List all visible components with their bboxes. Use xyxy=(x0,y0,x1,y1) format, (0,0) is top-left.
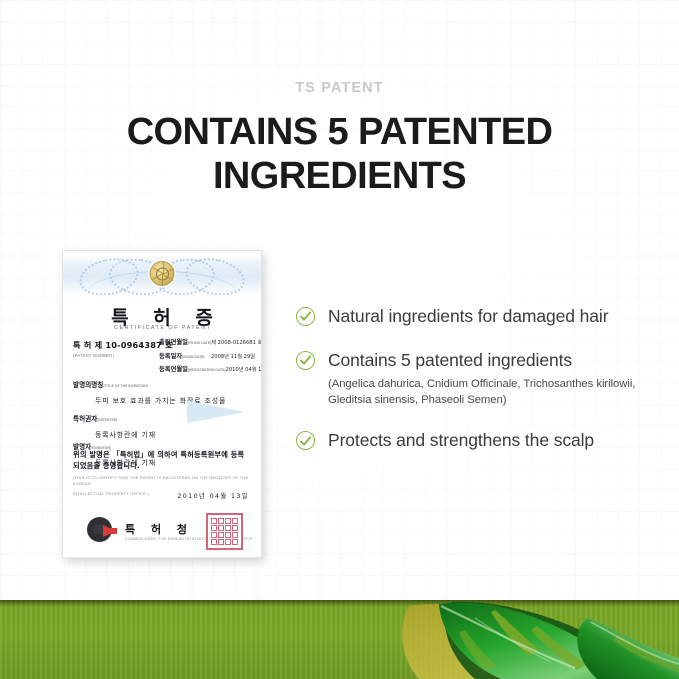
certificate-decorative-band xyxy=(63,255,261,295)
list-item: Natural ingredients for damaged hair xyxy=(296,305,646,328)
headline-line-1: CONTAINS 5 PATENTED xyxy=(60,110,619,154)
date-value: 2008년 11월 29일 xyxy=(211,353,255,360)
benefit-subtext: (Angelica dahurica, Cnidium Officinale, … xyxy=(328,376,646,409)
footer-band xyxy=(0,600,679,679)
certificate-subtitle: CERTIFICATE OF PATENT xyxy=(63,325,261,331)
benefit-text: Protects and strengthens the scalp xyxy=(328,429,646,452)
monstera-leaf-icon xyxy=(379,600,679,679)
benefit-text: Natural ingredients for damaged hair xyxy=(328,305,646,328)
date-key: 출원연월일(FILING DATE) xyxy=(159,337,211,346)
patentee-heading: 특허권자(PATENTEE) xyxy=(73,413,255,423)
certificate-footer: 특 허 청 COMMISSIONER, THE KOREAN INTELLECT… xyxy=(63,513,261,557)
certificate-date-row: 출원연월일(FILING DATE) 제 2008-0126681 호 xyxy=(159,337,255,346)
certify-text-kr-1: 위의 발명은 「특허법」에 의하여 특허등록원부에 등록 xyxy=(73,449,255,460)
official-seal-icon xyxy=(206,513,243,550)
list-item: Contains 5 patented ingredients (Angelic… xyxy=(296,349,646,409)
date-key: 등록일자(ISSUE DATE) xyxy=(159,351,205,360)
certificate-date-row: 등록연월일(REGISTRATION DATE) 2010년 04월 13일 xyxy=(159,364,255,373)
seal-pattern xyxy=(211,518,238,545)
certify-text-en-1: (THIS IS TO CERTIFY THAT THE PATENT IS R… xyxy=(73,475,255,487)
certificate-inner: 특 허 증 CERTIFICATE OF PATENT 특 허 제 10-096… xyxy=(63,251,261,557)
benefits-list: Natural ingredients for damaged hair Con… xyxy=(296,305,646,452)
certificate-date-block: 출원연월일(FILING DATE) 제 2008-0126681 호 등록일자… xyxy=(159,337,255,378)
certificate-certify-paragraph: 위의 발명은 「특허법」에 의하여 특허등록원부에 등록 되었음을 증명합니다.… xyxy=(73,449,255,497)
date-value: 제 2008-0126681 호 xyxy=(211,339,262,346)
benefit-text: Contains 5 patented ingredients xyxy=(328,349,646,372)
date-value: 2010년 04월 13일 xyxy=(226,366,262,373)
page-title: CONTAINS 5 PATENTED INGREDIENTS xyxy=(60,110,619,199)
office-name: 특 허 청 xyxy=(125,521,193,537)
page-root: TS PATENT CONTAINS 5 PATENTED INGREDIENT… xyxy=(0,0,679,679)
check-circle-icon xyxy=(296,351,315,370)
eyebrow-label: TS PATENT xyxy=(0,80,679,96)
headline-line-2: INGREDIENTS xyxy=(60,154,619,198)
kipo-arrow-icon xyxy=(103,525,116,537)
invention-heading: 발명의명칭(TITLE OF THE INVENTION) xyxy=(73,379,255,389)
list-item: Protects and strengthens the scalp xyxy=(296,429,646,452)
patentee-value: 등록사항란에 기재 xyxy=(73,429,255,439)
check-circle-icon xyxy=(296,431,315,450)
certificate-issue-date: 2010년 04월 13일 xyxy=(177,491,249,500)
date-key: 등록연월일(REGISTRATION DATE) xyxy=(159,364,226,373)
government-emblem-icon xyxy=(150,261,175,286)
certificate-date-row: 등록일자(ISSUE DATE) 2008년 11월 29일 xyxy=(159,351,255,360)
patent-certificate-image: 특 허 증 CERTIFICATE OF PATENT 특 허 제 10-096… xyxy=(62,250,262,558)
certificate-patentee-section: 특허권자(PATENTEE) 등록사항란에 기재 xyxy=(73,413,255,439)
certify-text-kr-2: 되었음을 증명합니다. xyxy=(73,460,255,471)
check-circle-icon xyxy=(296,307,315,326)
